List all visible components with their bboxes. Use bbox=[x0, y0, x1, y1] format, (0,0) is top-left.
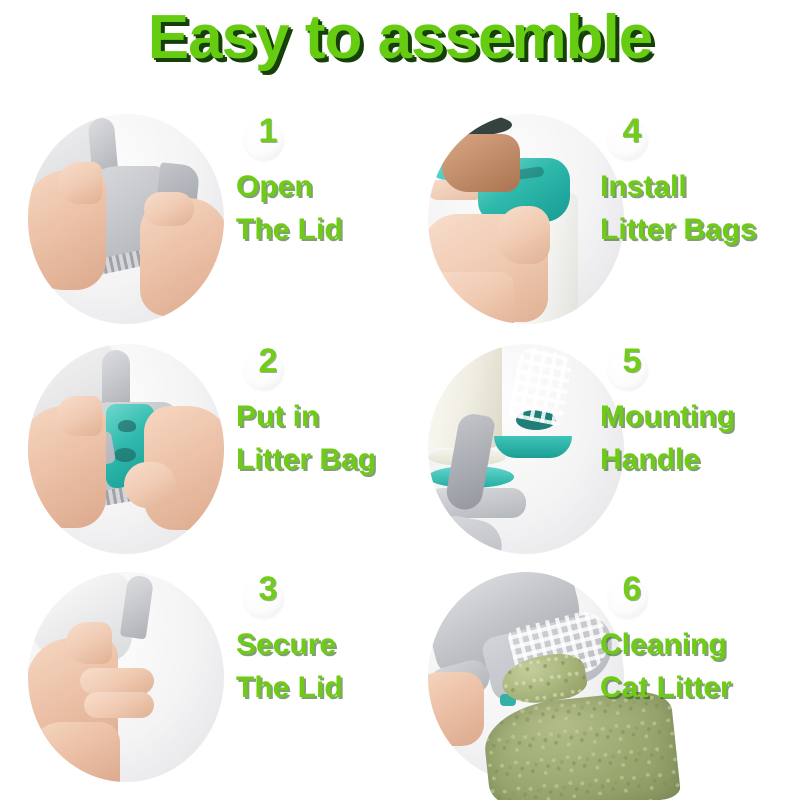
wrist-shape bbox=[428, 272, 514, 324]
left-thumb-shape bbox=[58, 162, 102, 204]
lid-tab-shape bbox=[102, 350, 130, 408]
right-fingers-shape bbox=[144, 192, 194, 226]
step-6-photo bbox=[428, 572, 624, 782]
bag-drape-shape bbox=[494, 436, 572, 458]
step-3-label-line1: Secure bbox=[236, 624, 400, 667]
step-6-number-wrap: 6 bbox=[600, 566, 800, 624]
step-3-label-line2: The Lid bbox=[236, 667, 400, 710]
bag-print-shape bbox=[118, 420, 136, 432]
step-5-photo bbox=[428, 344, 624, 554]
step-4-label-line2: Litter Bags bbox=[600, 209, 800, 252]
step-1-photo bbox=[28, 114, 224, 324]
wrist-shape bbox=[28, 722, 120, 782]
thumb-shape bbox=[66, 622, 112, 664]
step-1-number-wrap: 1 bbox=[236, 108, 400, 166]
step-4-text: 4 Install Litter Bags bbox=[600, 108, 800, 251]
step-2-number: 2 bbox=[246, 344, 290, 378]
step-6: 6 Cleaning Cat Litter bbox=[400, 566, 800, 794]
step-2-text: 2 Put in Litter Bag bbox=[236, 338, 400, 481]
step-3-text: 3 Secure The Lid bbox=[236, 566, 400, 709]
scoop-mesh-shape bbox=[508, 346, 575, 427]
scoop-shape bbox=[428, 512, 506, 554]
step-1-label-line2: The Lid bbox=[236, 209, 400, 252]
step-6-text: 6 Cleaning Cat Litter bbox=[600, 566, 800, 709]
step-3-number: 3 bbox=[246, 572, 290, 606]
step-5: 5 Mounting Handle bbox=[400, 338, 800, 566]
step-6-label-line2: Cat Litter bbox=[600, 667, 800, 710]
container-mouth-shape bbox=[428, 114, 512, 136]
lower-thumb-shape bbox=[498, 206, 550, 264]
step-6-label-line1: Cleaning bbox=[600, 624, 800, 667]
step-4-label-line1: Install bbox=[600, 166, 800, 209]
step-5-text: 5 Mounting Handle bbox=[600, 338, 800, 481]
step-6-photo-disc bbox=[428, 572, 624, 782]
step-1: 1 Open The Lid bbox=[0, 108, 400, 336]
step-4-number-wrap: 4 bbox=[600, 108, 800, 166]
step-1-label-line1: Open bbox=[236, 166, 400, 209]
step-6-number: 6 bbox=[610, 572, 654, 606]
step-4: 4 Install Litter Bags bbox=[400, 108, 800, 336]
step-2-photo bbox=[28, 344, 224, 554]
step-2-label-line2: Litter Bag bbox=[236, 439, 400, 482]
step-5-label-line2: Handle bbox=[600, 439, 800, 482]
finger-shape bbox=[84, 692, 154, 718]
step-1-text: 1 Open The Lid bbox=[236, 108, 400, 251]
step-5-number: 5 bbox=[610, 344, 654, 378]
step-3-number-wrap: 3 bbox=[236, 566, 400, 624]
finger-shape bbox=[80, 668, 154, 694]
step-4-number: 4 bbox=[610, 114, 654, 148]
step-2-number-wrap: 2 bbox=[236, 338, 400, 396]
step-2: 2 Put in Litter Bag bbox=[0, 338, 400, 566]
infographic-page: Easy to assemble 1 Open The Lid bbox=[0, 0, 800, 800]
page-title: Easy to assemble bbox=[0, 2, 800, 73]
left-thumb-shape bbox=[56, 396, 102, 436]
step-5-label-line1: Mounting bbox=[600, 396, 800, 439]
hand-shape bbox=[428, 672, 484, 746]
step-5-number-wrap: 5 bbox=[600, 338, 800, 396]
step-3-photo bbox=[28, 572, 224, 782]
step-2-label-line1: Put in bbox=[236, 396, 400, 439]
bag-print-shape bbox=[114, 448, 136, 462]
upper-hand-shape bbox=[442, 134, 520, 192]
step-4-photo bbox=[428, 114, 624, 324]
right-thumb-shape bbox=[124, 462, 176, 508]
step-3: 3 Secure The Lid bbox=[0, 566, 400, 794]
step-1-number: 1 bbox=[246, 114, 290, 148]
